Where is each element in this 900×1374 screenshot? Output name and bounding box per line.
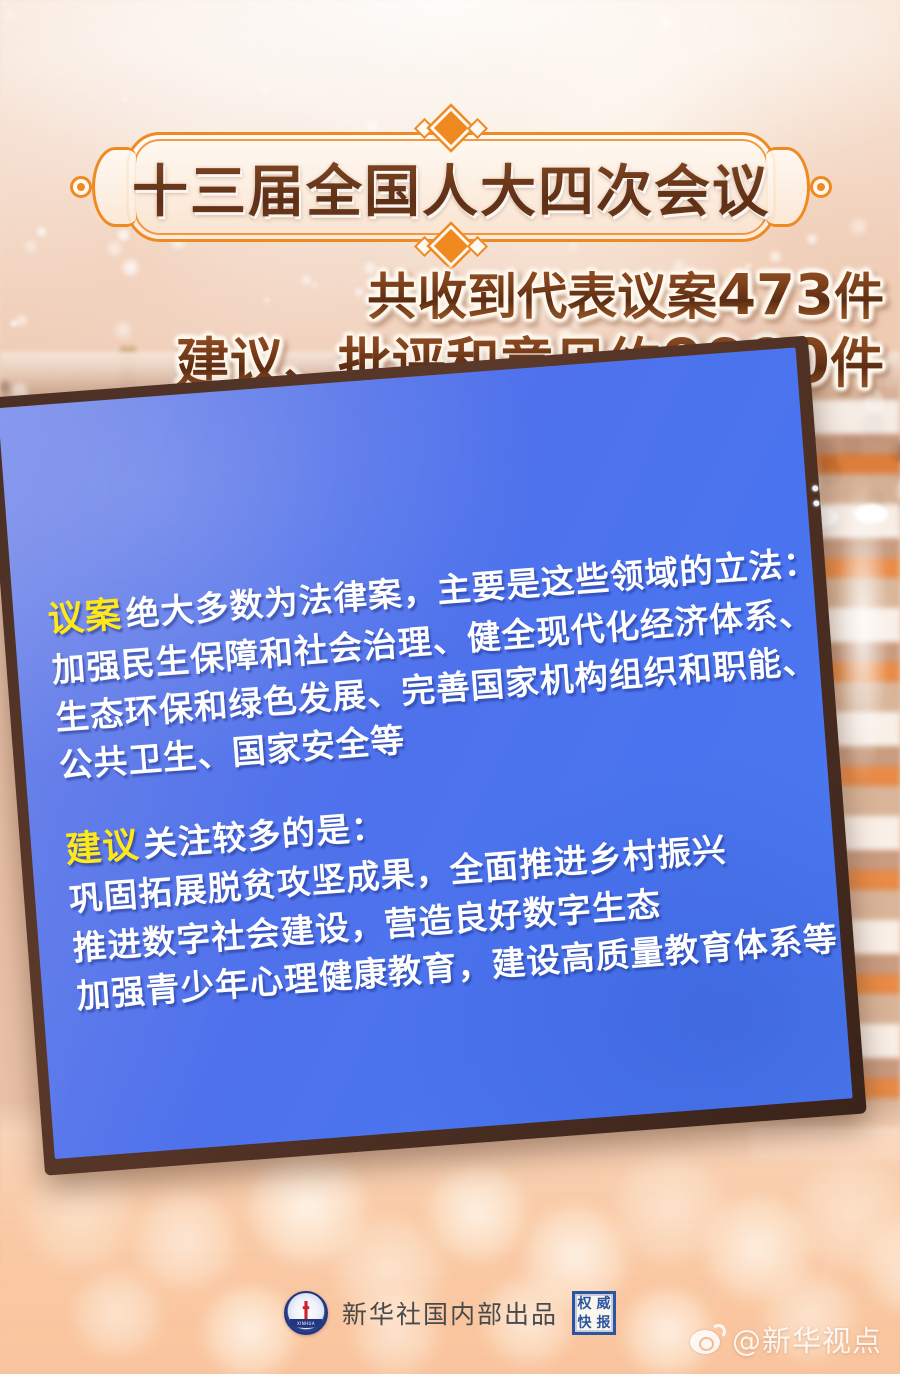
screen-section-tag: 建议 [64,824,141,870]
weibo-icon [690,1324,726,1354]
subtitle-line-1: 共收到代表议案473件 [124,266,884,326]
screen-section-tag: 议案 [46,594,123,640]
authority-stamp-icon: 权威快报 [572,1291,616,1335]
xinhua-logo-icon [284,1291,328,1335]
weibo-handle: @新华视点 [732,1318,882,1360]
stamp-char: 快 [578,1316,592,1330]
banner-left-dot-icon [70,176,92,198]
poster-root: 十三届全国人大四次会议 共收到代表议案473件 建议、批评和意见约9000件 议… [0,0,900,1374]
screen-section: 议案绝大多数为法律案，主要是这些领域的立法：加强民生保障和社会治理、健全现代化经… [46,539,803,791]
weibo-watermark: @新华视点 [690,1318,882,1360]
screen-section: 建议关注较多的是：巩固拓展脱贫攻坚成果，全面推进乡村振兴推进数字社会建设，营造良… [64,768,821,1020]
stamp-char: 威 [597,1297,611,1311]
screen-content-text: 议案绝大多数为法律案，主要是这些领域的立法：加强民生保障和社会治理、健全现代化经… [46,539,820,1021]
banner-right-dot-icon [810,176,832,198]
title-banner: 十三届全国人大四次会议 [96,128,806,246]
producer-label: 新华社国内部出品 [342,1295,558,1331]
stamp-char: 权 [578,1297,592,1311]
presentation-screen: 议案绝大多数为法律案，主要是这些领域的立法：加强民生保障和社会治理、健全现代化经… [0,336,867,1176]
page-title: 十三届全国人大四次会议 [96,128,806,246]
screen-display-panel: 议案绝大多数为法律案，主要是这些领域的立法：加强民生保障和社会治理、健全现代化经… [0,347,853,1159]
stamp-char: 报 [597,1316,611,1330]
